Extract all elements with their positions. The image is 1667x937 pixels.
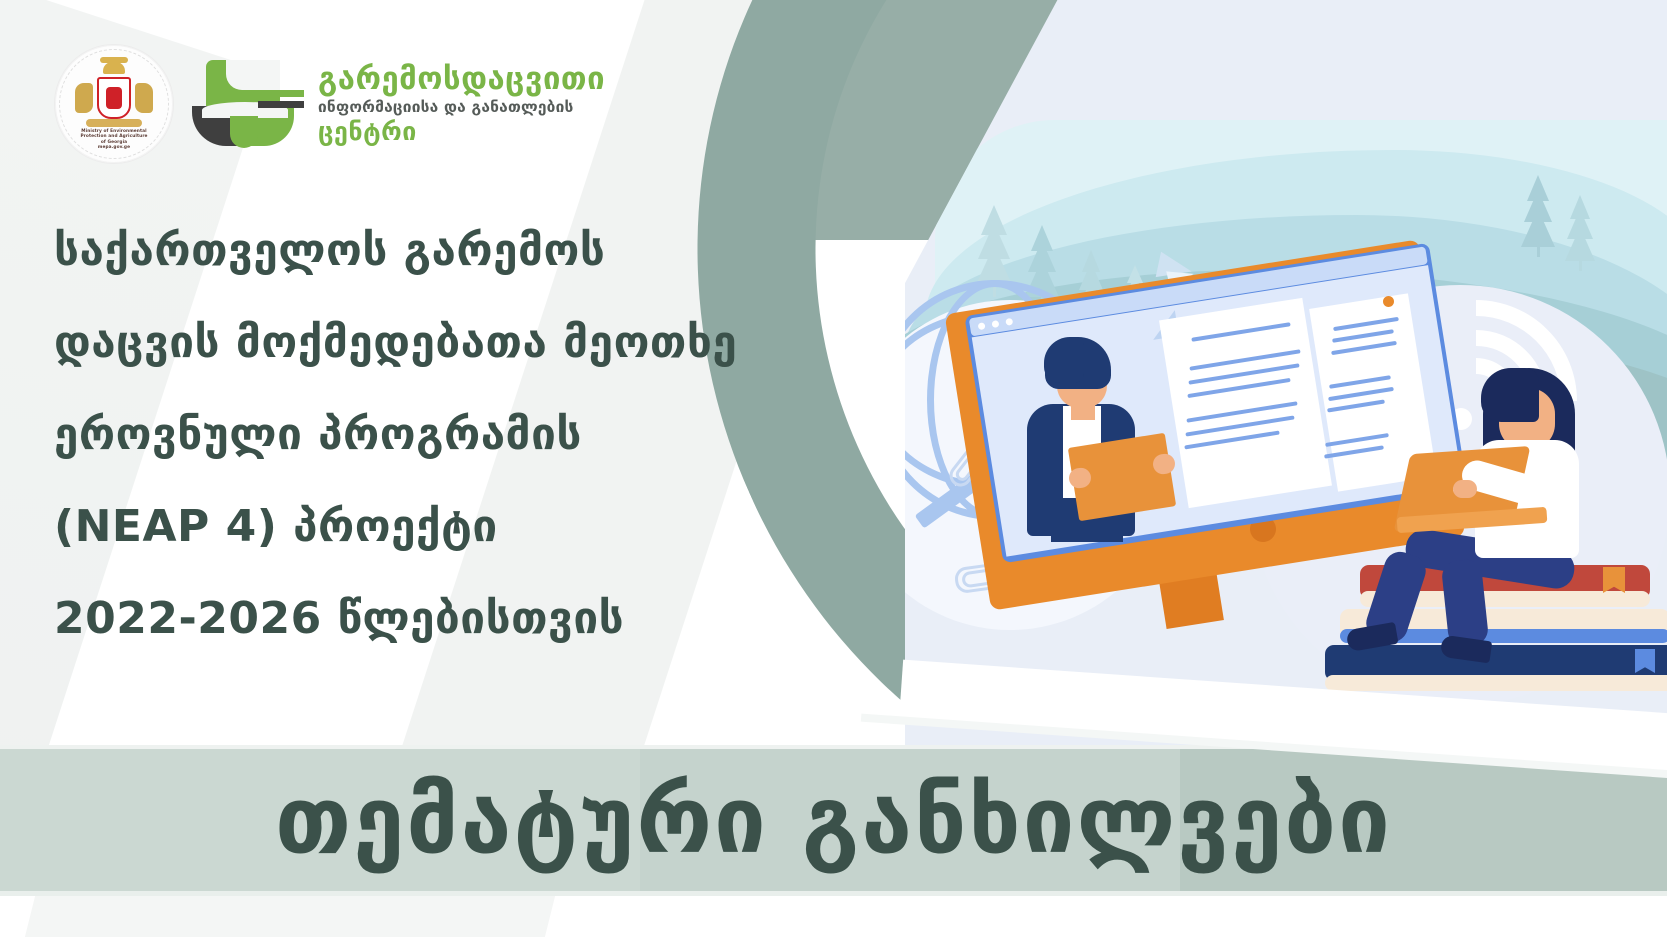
- pine-tree-icon: [1521, 175, 1555, 257]
- headline-block: საქართველოს გარემოს დაცვის მოქმედებათა მ…: [54, 205, 754, 665]
- seal-lion-right-icon: [135, 83, 153, 113]
- banner-title: თემატური განხილვები: [0, 749, 1667, 891]
- learner-hair-front: [1481, 368, 1539, 422]
- eiec-logo-icon: [196, 60, 296, 148]
- bottom-banner: თემატური განხილვები: [0, 700, 1667, 937]
- brand-header: Ministry of Environmental Protection and…: [54, 44, 605, 164]
- book-navy-pages: [1325, 675, 1667, 691]
- logo-bar-dark: [258, 101, 304, 108]
- headline-line-5: 2022-2026 წლებისთვის: [54, 573, 754, 665]
- browser-dot-3: [1005, 318, 1013, 326]
- banner-underarea-shade: [25, 896, 555, 937]
- logo-line-3: ცენტრი: [318, 119, 605, 144]
- logo-bar-green: [258, 90, 304, 97]
- illustration-panel: [905, 0, 1667, 745]
- seal-lion-left-icon: [75, 83, 93, 113]
- seal-shield-icon: [97, 77, 131, 119]
- learner-hand: [1453, 480, 1477, 498]
- logo-line-2: ინფორმაციისა და განათლების: [318, 100, 605, 116]
- headline-line-2: დაცვის მოქმედებათა მეოთხე: [54, 297, 754, 389]
- seal-crown-icon: [103, 62, 125, 74]
- pine-tree-icon: [1565, 195, 1595, 271]
- logo-notch: [226, 60, 280, 90]
- logo-line-1: გარემოსდაცვითი: [318, 64, 605, 95]
- logo-wordmark: გარემოსდაცვითი ინფორმაციისა და განათლები…: [318, 64, 605, 145]
- seal-caption: Ministry of Environmental Protection and…: [55, 129, 173, 151]
- seal-ribbon: [86, 119, 142, 127]
- ministry-seal-icon: Ministry of Environmental Protection and…: [54, 44, 174, 164]
- browser-dot-1: [978, 322, 986, 330]
- browser-dot-2: [991, 320, 999, 328]
- headline-line-3: ეროვნული პროგრამის: [54, 389, 754, 481]
- poster-canvas: Ministry of Environmental Protection and…: [0, 0, 1667, 937]
- headline-line-4: (NEAP 4) პროექტი: [54, 481, 754, 573]
- logo-stem: [230, 116, 258, 148]
- headline-line-1: საქართველოს გარემოს: [54, 205, 754, 297]
- seal-caption-line-4: mepa.gov.ge: [55, 145, 173, 150]
- illustration-clip: [905, 0, 1667, 745]
- illustration-scene: [905, 0, 1667, 745]
